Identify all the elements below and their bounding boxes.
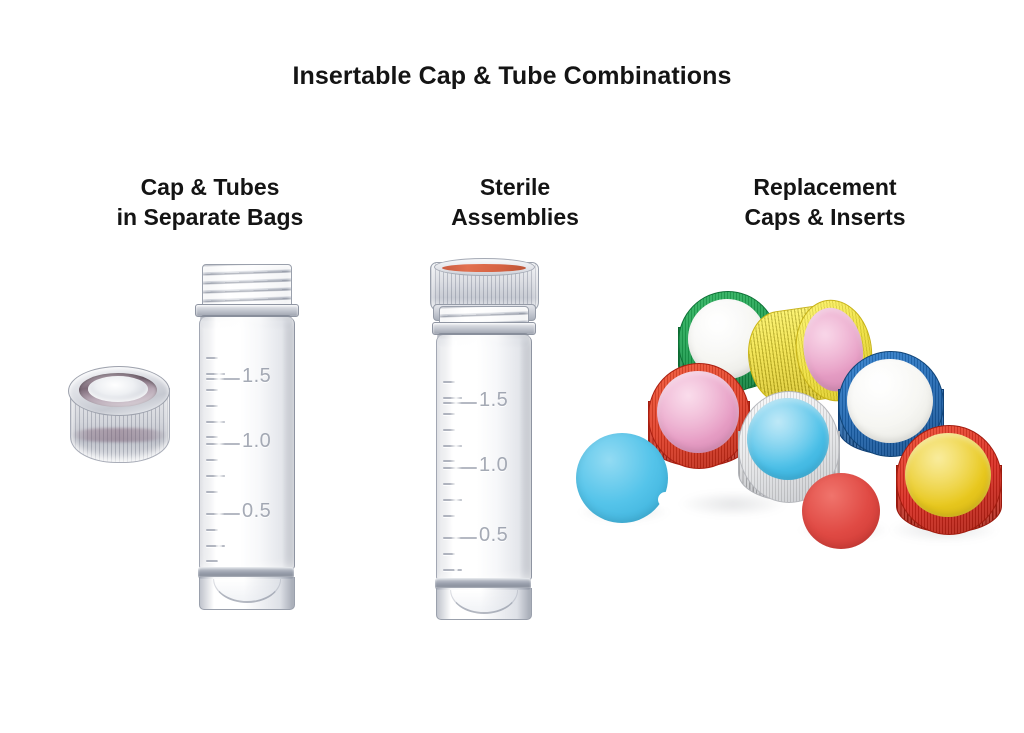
column-heading-separate-bags: Cap & Tubes in Separate Bags: [40, 172, 380, 232]
insert-lightblue: [747, 398, 829, 480]
cap-dome: [88, 376, 148, 402]
tube-barrel: 1.5 1.0 0.5: [436, 335, 532, 580]
page-title: Insertable Cap & Tube Combinations: [0, 62, 1024, 91]
cap-red-yellow[interactable]: [896, 425, 1000, 533]
graduated-tube-image: 1.5 1.0 0.5: [199, 264, 293, 609]
tube-graduation-label-1_0: 1.0: [479, 454, 508, 477]
tube-self-standing-skirt: [199, 577, 295, 610]
insert-red-disc[interactable]: [802, 473, 880, 549]
cap-red-pink[interactable]: [648, 363, 748, 467]
replacement-caps-cluster-image: [570, 285, 1020, 570]
cap-shadow-band: [71, 428, 167, 442]
tube-self-standing-skirt: [436, 588, 532, 620]
disc-face: [802, 473, 880, 549]
product-poster: Insertable Cap & Tube Combinations Cap &…: [0, 0, 1024, 733]
tube-graduation-label-1_5: 1.5: [479, 389, 508, 412]
sterile-assembly-tube-image: 1.5 1.0 0.5: [436, 306, 530, 609]
tube-conical-bottom: [213, 579, 281, 603]
column-heading-sterile-assemblies: Sterile Assemblies: [370, 172, 660, 232]
tube-graduation-label-0_5: 0.5: [479, 524, 508, 547]
tube-conical-bottom: [450, 590, 518, 614]
tube-thread-neck: [202, 264, 292, 308]
tube-graduation-label-1_0: 1.0: [242, 430, 271, 453]
sterile-cap-insert: [442, 264, 526, 272]
insert-lightblue-disc[interactable]: [576, 433, 668, 523]
clear-screw-cap-image: [68, 362, 170, 470]
insert-pink: [657, 371, 739, 453]
tube-graduation-scale: [206, 317, 246, 569]
tube-barrel: 1.5 1.0 0.5: [199, 317, 295, 569]
disc-notch: [658, 492, 673, 507]
tube-graduation-label-1_5: 1.5: [242, 365, 271, 388]
column-heading-replacement-caps: Replacement Caps & Inserts: [660, 172, 990, 232]
tube-graduation-label-0_5: 0.5: [242, 500, 271, 523]
tube-graduation-scale: [443, 335, 483, 580]
insert-yellow: [905, 433, 991, 517]
disc-face: [576, 433, 668, 523]
